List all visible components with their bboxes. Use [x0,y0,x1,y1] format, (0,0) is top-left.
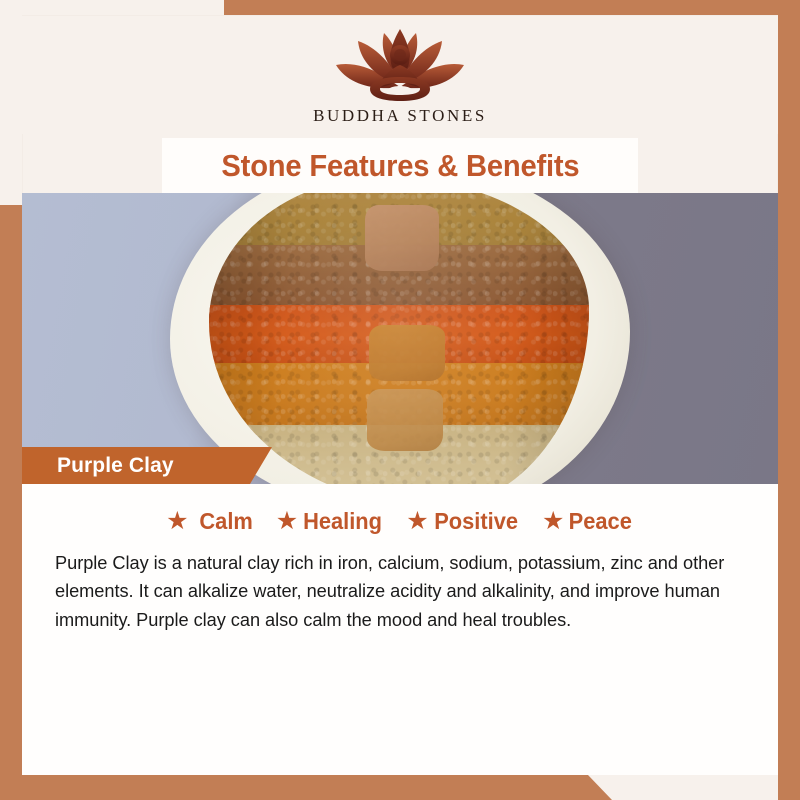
feature-label-peace: Peace [569,508,632,535]
frame-bar-right [778,0,800,800]
stone-name-ribbon: Purple Clay [22,447,272,484]
clay-chunk-middle [369,325,445,381]
star-icon: ★ [406,509,428,534]
brand-name: BUDDHA STONES [313,106,487,126]
title-banner: Stone Features & Benefits [162,138,638,193]
poster-root: BUDDHA STONES Stone Features & Benefits … [0,0,800,800]
clay-chunk-upper [365,205,439,271]
stone-name-label: Purple Clay [57,454,174,478]
frame-bar-top [224,0,800,15]
frame-bar-left [0,205,22,800]
star-icon: ★ [276,509,298,534]
page-title: Stone Features & Benefits [221,148,579,184]
lotus-meditation-figure-icon [305,24,495,104]
frame-bar-bottom [0,775,612,800]
feature-item-positive: ★ Positive [406,508,520,535]
content-panel: ★ Calm ★ Healing ★ Positive ★ Peace Purp… [22,484,778,775]
feature-list: ★ Calm ★ Healing ★ Positive ★ Peace [22,484,778,535]
feature-item-calm: ★ Calm [166,508,254,535]
star-icon: ★ [166,509,188,534]
clay-chunk-lower [367,389,443,451]
stone-description: Purple Clay is a natural clay rich in ir… [55,549,738,634]
feature-item-healing: ★ Healing [276,508,385,535]
feature-item-peace: ★ Peace [542,508,634,535]
clay-powder-mound [209,193,589,484]
feature-label-positive: Positive [434,508,518,535]
product-photo [22,193,778,484]
star-icon: ★ [542,509,564,534]
feature-label-calm: Calm [199,508,252,535]
feature-label-healing: Healing [303,508,382,535]
brand-header: BUDDHA STONES [22,16,778,134]
